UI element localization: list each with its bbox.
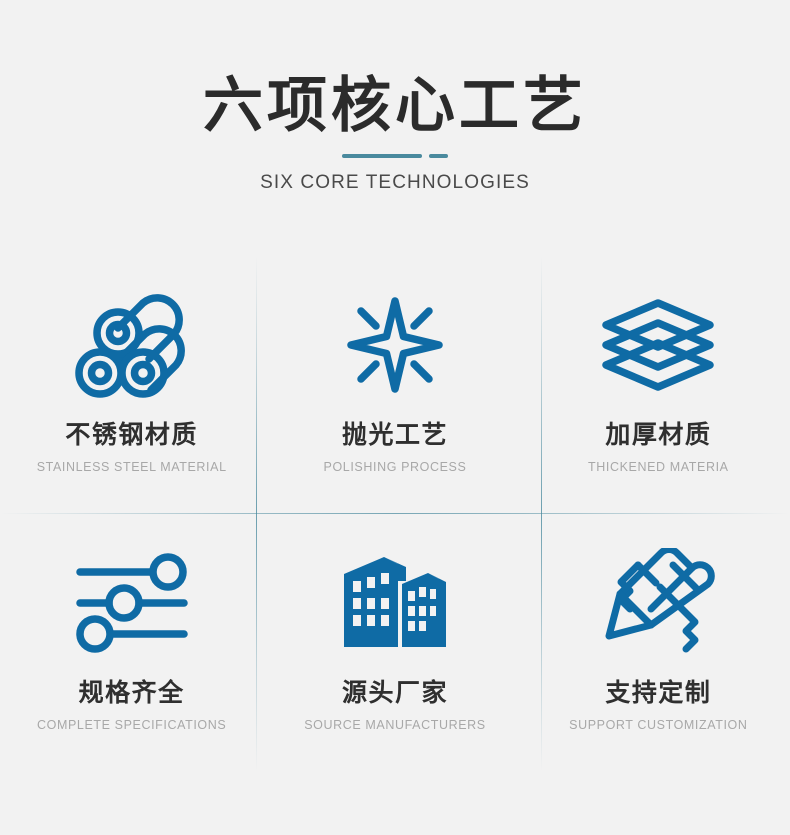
crossed-pencils-icon [593, 544, 723, 662]
page-subtitle: SIX CORE TECHNOLOGIES [0, 172, 790, 194]
page-header: 六项核心工艺 SIX CORE TECHNOLOGIES [0, 0, 790, 194]
feature-title: 不锈钢材质 [65, 420, 198, 450]
sparkle-star-icon [330, 286, 460, 404]
feature-title: 抛光工艺 [342, 420, 448, 450]
feature-cell-polishing[interactable]: 抛光工艺 POLISHING PROCESS [263, 256, 526, 514]
title-divider [0, 153, 790, 159]
feature-subtitle: SOURCE MANUFACTURERS [304, 718, 485, 732]
feature-title: 支持定制 [605, 678, 711, 708]
feature-subtitle: SUPPORT CUSTOMIZATION [569, 718, 747, 732]
feature-cell-manufacturers[interactable]: 源头厂家 SOURCE MANUFACTURERS [263, 514, 526, 772]
page-title: 六项核心工艺 [0, 74, 790, 139]
feature-subtitle: COMPLETE SPECIFICATIONS [37, 718, 226, 732]
feature-cell-specifications[interactable]: 规格齐全 COMPLETE SPECIFICATIONS [0, 514, 263, 772]
feature-cell-stainless-steel[interactable]: 不锈钢材质 STAINLESS STEEL MATERIAL [0, 256, 263, 514]
feature-subtitle: POLISHING PROCESS [324, 460, 467, 474]
feature-grid: 不锈钢材质 STAINLESS STEEL MATERIAL [0, 256, 790, 772]
sliders-icon [67, 544, 197, 662]
feature-subtitle: STAINLESS STEEL MATERIAL [37, 460, 227, 474]
feature-cell-customization[interactable]: 支持定制 SUPPORT CUSTOMIZATION [527, 514, 790, 772]
feature-subtitle: THICKENED MATERIA [588, 460, 729, 474]
stacked-layers-icon [593, 286, 723, 404]
feature-cell-thickened[interactable]: 加厚材质 THICKENED MATERIA [527, 256, 790, 514]
divider-segment-short [429, 154, 448, 158]
feature-title: 规格齐全 [79, 678, 185, 708]
feature-title: 加厚材质 [605, 420, 711, 450]
stacked-pipes-icon [67, 286, 197, 404]
divider-segment-long [342, 154, 422, 158]
factory-buildings-icon [330, 544, 460, 662]
feature-showcase-page: 六项核心工艺 SIX CORE TECHNOLOGIES [0, 0, 790, 835]
feature-title: 源头厂家 [342, 678, 448, 708]
